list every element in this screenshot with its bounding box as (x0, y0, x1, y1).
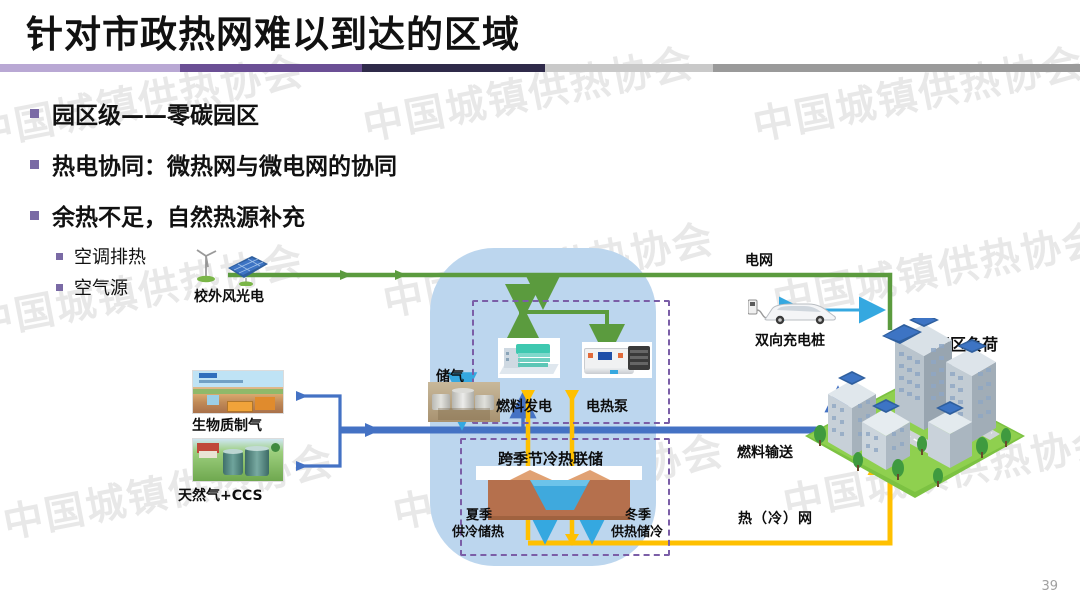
bullet-item: 余热不足，自然热源补充 (30, 198, 397, 232)
natural-gas-ccs-image (192, 438, 284, 482)
park-city-illustration (800, 318, 1030, 508)
bullet-label: 热电协同：微热网与微电网的协同 (52, 147, 397, 181)
divider-segment-4 (545, 64, 713, 72)
bullet-item: 热电协同：微热网与微电网的协同 (30, 147, 397, 181)
biomass-gas-image (192, 370, 284, 414)
biomass-gas-label: 生物质制气 (192, 415, 262, 435)
divider-segment-2 (180, 64, 362, 72)
bullet-list: 园区级——零碳园区 热电协同：微热网与微电网的协同 余热不足，自然热源补充 空调… (30, 96, 397, 305)
bullet-square-icon (56, 284, 63, 291)
power-grid-label: 电网 (745, 250, 773, 270)
gas-storage-image (428, 382, 500, 422)
blue-gas-ccs-line (300, 430, 340, 466)
sub-bullet-item: 空调排热 (56, 243, 397, 269)
sub-bullet-item: 空气源 (56, 274, 397, 300)
blue-arrow-icon (296, 461, 308, 471)
fuel-power-plant-image (498, 338, 560, 378)
bullet-square-icon (30, 109, 39, 118)
fuel-transport-label: 燃料输送 (737, 442, 793, 462)
summer-sub-label: 供冷储热 (452, 521, 504, 540)
bullet-item: 园区级——零碳园区 (30, 96, 397, 130)
fuel-power-label: 燃料发电 (496, 396, 552, 416)
heat-cold-network-label: 热（冷）网 (738, 508, 813, 528)
bullet-label: 余热不足，自然热源补充 (52, 198, 305, 232)
divider-segment-3 (362, 64, 545, 72)
blue-arrow-icon (296, 391, 308, 401)
electric-heat-pump-label: 电热泵 (586, 396, 628, 416)
bullet-square-icon (30, 160, 39, 169)
bullet-square-icon (30, 211, 39, 220)
page-title: 针对市政热网难以到达的区域 (26, 4, 520, 58)
bullet-square-icon (56, 253, 63, 260)
seasonal-storage-pit-icon (476, 466, 642, 526)
blue-biomass-line (300, 396, 340, 430)
natural-gas-ccs-label: 天然气+CCS (178, 485, 263, 505)
title-divider (0, 64, 1080, 72)
page-number: 39 (1041, 579, 1058, 594)
blue-arrow-icon (365, 423, 381, 437)
sub-bullet-label: 空调排热 (74, 243, 146, 269)
slide-root: 中国城镇供热协会 中国城镇供热协会 中国城镇供热协会 中国城镇供热协会 中国城镇… (0, 0, 1080, 608)
sub-bullet-label: 空气源 (74, 274, 128, 300)
divider-segment-5 (713, 64, 1080, 72)
divider-segment-1 (0, 64, 180, 72)
electric-heat-pump-image (582, 342, 652, 378)
bullet-label: 园区级——零碳园区 (52, 96, 259, 130)
winter-sub-label: 供热储冷 (611, 521, 663, 540)
